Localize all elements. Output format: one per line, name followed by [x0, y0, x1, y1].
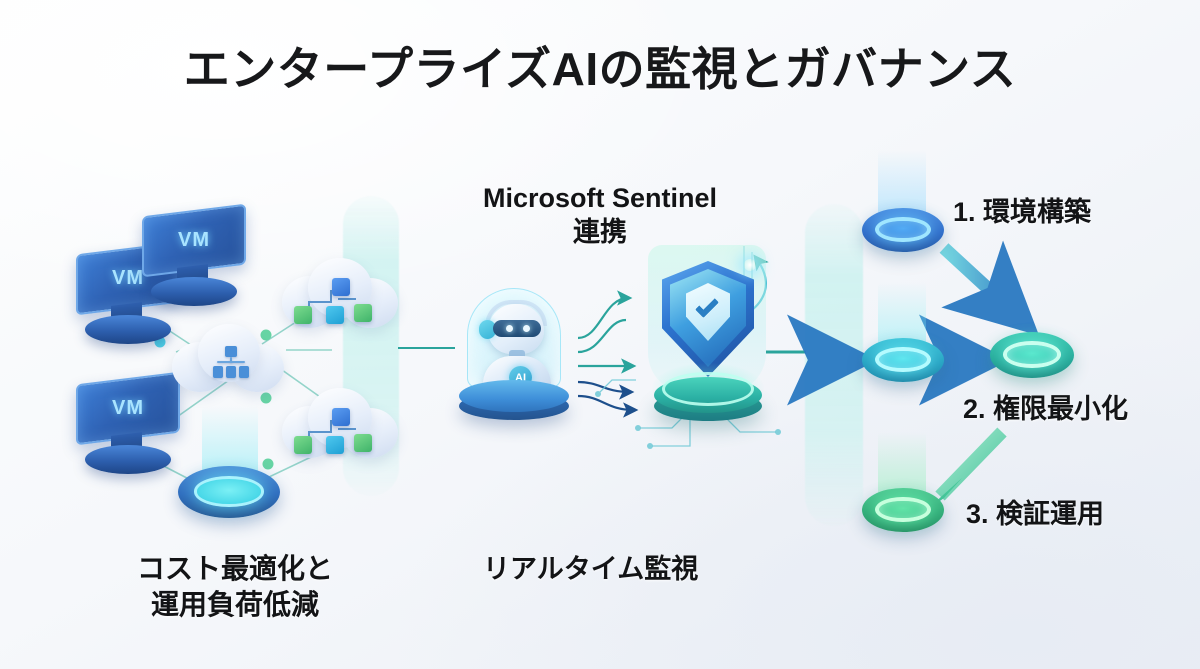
- left-platform-disc: [178, 466, 280, 518]
- target-disc: [990, 332, 1074, 378]
- step-1-label: 1. 環境構築: [953, 195, 1091, 230]
- step-2-label: 2. 権限最小化: [963, 392, 1128, 427]
- sentinel-label-line1: Microsoft Sentinel: [483, 183, 717, 213]
- vm-monitor-3: VM: [76, 378, 180, 474]
- network-cloud-icon: [168, 322, 288, 394]
- robot-platform-top: [459, 380, 569, 412]
- cube-node: [326, 306, 344, 324]
- robot-visor: [493, 320, 541, 337]
- robot-eye-right: [523, 325, 530, 332]
- network-topology-icon: [212, 346, 250, 380]
- vm-stand-base: [85, 445, 170, 474]
- disc-glow-ring: [194, 476, 263, 506]
- cube-node: [332, 408, 350, 426]
- page-title: エンタープライズAIの監視とガバナンス: [0, 33, 1200, 99]
- robot-eye-left: [506, 325, 513, 332]
- shield-platform-ring: [662, 372, 754, 406]
- disc-glow-ring: [875, 497, 931, 523]
- cube-node: [294, 306, 312, 324]
- cube-node: [354, 304, 372, 322]
- slide-canvas: エンタープライズAIの監視とガバナンス: [0, 0, 1200, 669]
- step-3-label: 3. 検証運用: [966, 497, 1104, 532]
- monitoring-caption: リアルタイム監視: [483, 552, 698, 587]
- resource-cloud-icon-bottom: [280, 388, 402, 468]
- cube-node: [354, 434, 372, 452]
- cost-caption: コスト最適化と 運用負荷低減: [60, 551, 410, 623]
- step-2-disc: [862, 338, 944, 382]
- vm-stand-base: [85, 315, 170, 344]
- disc-glow-ring: [875, 347, 931, 373]
- cube-node: [294, 436, 312, 454]
- step-3-disc: [862, 488, 944, 532]
- vm-label: VM: [112, 397, 144, 420]
- ai-robot-icon: AI: [455, 288, 577, 420]
- disc-glow-ring: [1003, 341, 1060, 368]
- cube-node: [326, 436, 344, 454]
